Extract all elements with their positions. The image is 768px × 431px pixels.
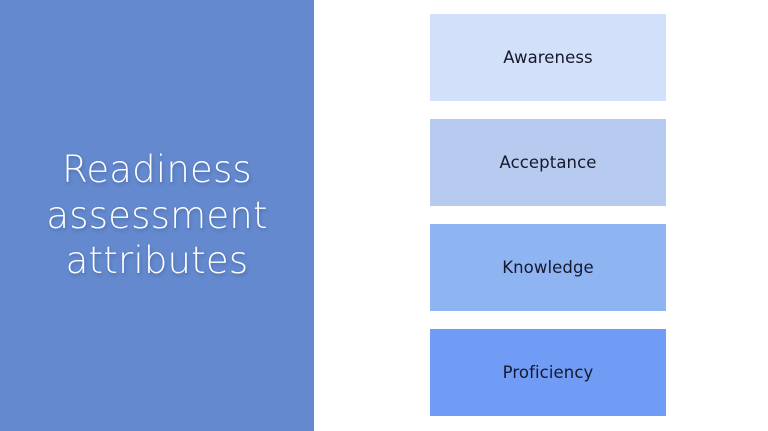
attribute-label: Awareness [503, 48, 593, 67]
page-title: Readiness assessment attributes [32, 147, 281, 285]
attribute-label: Knowledge [502, 258, 594, 277]
attribute-box-awareness[interactable]: Awareness [430, 14, 666, 101]
title-panel: Readiness assessment attributes [0, 0, 314, 431]
slide-canvas: Readiness assessment attributes Awarenes… [0, 0, 768, 431]
attribute-label: Proficiency [503, 363, 594, 382]
attribute-box-proficiency[interactable]: Proficiency [430, 329, 666, 416]
attribute-box-acceptance[interactable]: Acceptance [430, 119, 666, 206]
attribute-label: Acceptance [499, 153, 596, 172]
attributes-stack: Awareness Acceptance Knowledge Proficien… [430, 14, 666, 416]
attribute-box-knowledge[interactable]: Knowledge [430, 224, 666, 311]
